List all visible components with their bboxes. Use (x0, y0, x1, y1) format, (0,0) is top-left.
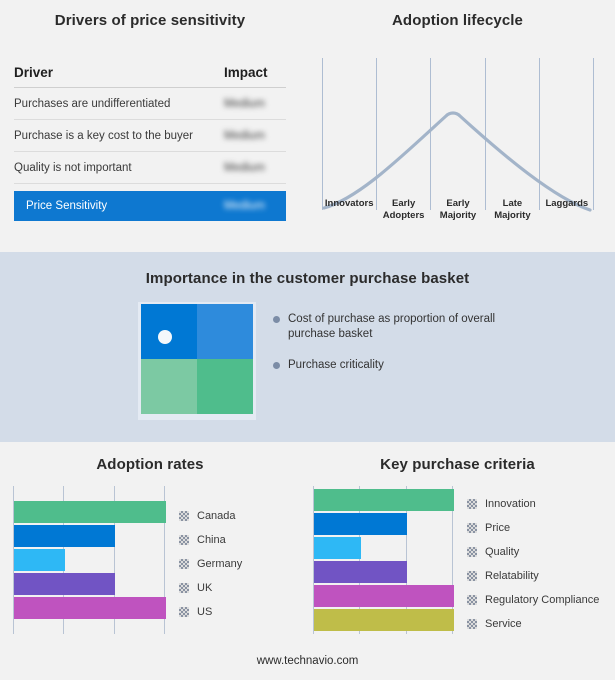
bar-slot (314, 609, 454, 631)
segment-line-2: Majority (432, 210, 484, 222)
bar-quality[interactable] (314, 537, 361, 559)
segment-line-1: Late (486, 198, 538, 210)
legend-item[interactable]: Regulatory Compliance (467, 588, 599, 612)
table-header-row: Driver Impact (14, 58, 286, 88)
segment-line-1: Early (432, 198, 484, 210)
matrix-quadrant-bottom-left[interactable] (141, 359, 197, 414)
driver-label: Purchase is a key cost to the buyer (14, 130, 193, 142)
legend-label: Germany (197, 558, 242, 570)
legend-item[interactable]: Quality (467, 540, 599, 564)
legend-swatch-icon (179, 511, 189, 521)
bar-canada[interactable] (14, 501, 166, 523)
basket-matrix (141, 304, 253, 414)
key-purchase-criteria-title: Key purchase criteria (300, 456, 615, 473)
legend-item[interactable]: Price (467, 516, 599, 540)
bar-germany[interactable] (14, 549, 65, 571)
basket-matrix-wrap (138, 302, 256, 420)
drivers-title: Drivers of price sensitivity (0, 12, 300, 29)
bar-china[interactable] (14, 525, 115, 547)
adoption-rates-panel: Adoption rates Can (0, 442, 300, 652)
adoption-rates-legend: Canada China Germany UK US (179, 486, 242, 638)
matrix-quadrant-top-right[interactable] (197, 304, 253, 359)
bar-slot (314, 585, 454, 607)
legend-item[interactable]: China (179, 528, 242, 552)
lifecycle-labels: Innovators Early Adopters Early Majority… (322, 198, 594, 221)
key-purchase-criteria-legend: Innovation Price Quality Relatability Re… (467, 486, 599, 638)
legend-label: UK (197, 582, 212, 594)
legend-label: US (197, 606, 212, 618)
matrix-quadrant-top-left[interactable] (141, 304, 197, 359)
legend-item[interactable]: Relatability (467, 564, 599, 588)
drivers-panel: Drivers of price sensitivity Driver Impa… (0, 0, 300, 252)
basket-panel: Importance in the customer purchase bask… (0, 252, 615, 442)
legend-swatch-icon (467, 571, 477, 581)
bullet-dot-icon (273, 316, 280, 323)
legend-swatch-icon (179, 559, 189, 569)
segment-line-1: Innovators (323, 198, 375, 210)
legend-item[interactable]: Service (467, 612, 599, 636)
bar-slot (14, 573, 166, 595)
bar-innovation[interactable] (314, 489, 454, 511)
bar-slot (14, 549, 166, 571)
bar-us[interactable] (14, 597, 166, 619)
bullet-dot-icon (273, 362, 280, 369)
lifecycle-segment-early-adopters: Early Adopters (376, 198, 430, 221)
legend-label: Canada (197, 510, 236, 522)
legend-item[interactable]: US (179, 600, 242, 624)
matrix-quadrant-bottom-right[interactable] (197, 359, 253, 414)
legend-label: Innovation (485, 498, 536, 510)
footer-url: www.technavio.com (0, 655, 615, 667)
legend-label: Regulatory Compliance (485, 594, 599, 606)
bar-slot (314, 537, 454, 559)
table-row-highlighted[interactable]: Price Sensitivity Medium (14, 191, 286, 221)
legend-swatch-icon (179, 583, 189, 593)
impact-value-redacted: Medium (224, 130, 280, 142)
lifecycle-segment-late-majority: Late Majority (485, 198, 539, 221)
legend-item[interactable]: Innovation (467, 492, 599, 516)
basket-legend-item: Cost of purchase as proportion of overal… (273, 312, 563, 342)
bar-slot (314, 489, 454, 511)
key-purchase-criteria-plot (313, 486, 453, 634)
legend-label: Service (485, 618, 522, 630)
bar-slot (14, 597, 166, 619)
drivers-table: Driver Impact Purchases are undifferenti… (14, 58, 286, 221)
bar-uk[interactable] (14, 573, 115, 595)
lifecycle-segment-innovators: Innovators (322, 198, 376, 221)
legend-swatch-icon (467, 499, 477, 509)
legend-item[interactable]: Canada (179, 504, 242, 528)
bar-price[interactable] (314, 513, 407, 535)
bar-regulatory-compliance[interactable] (314, 585, 454, 607)
legend-swatch-icon (179, 535, 189, 545)
segment-line-1: Laggards (541, 198, 593, 210)
table-row[interactable]: Quality is not important Medium (14, 152, 286, 184)
basket-legend: Cost of purchase as proportion of overal… (273, 312, 563, 389)
impact-value-redacted: Medium (224, 162, 280, 174)
key-purchase-criteria-bars (314, 486, 454, 634)
segment-line-1: Early (377, 198, 429, 210)
basket-legend-label: Cost of purchase as proportion of overal… (288, 312, 513, 342)
bar-slot (314, 561, 454, 583)
lifecycle-segment-laggards: Laggards (540, 198, 594, 221)
matrix-position-marker-icon (158, 330, 172, 344)
legend-item[interactable]: UK (179, 576, 242, 600)
bar-relatability[interactable] (314, 561, 407, 583)
bar-slot (14, 501, 166, 523)
lifecycle-panel: Adoption lifecycle Innovators Early Adop… (300, 0, 615, 252)
basket-legend-label: Purchase criticality (288, 358, 384, 373)
adoption-rates-bars (14, 486, 166, 634)
adoption-rates-title: Adoption rates (0, 456, 300, 473)
impact-value-redacted: Medium (224, 98, 280, 110)
driver-label: Quality is not important (14, 162, 132, 174)
driver-label: Purchases are undifferentiated (14, 98, 170, 110)
legend-swatch-icon (179, 607, 189, 617)
legend-swatch-icon (467, 523, 477, 533)
lifecycle-title: Adoption lifecycle (300, 12, 615, 29)
table-row[interactable]: Purchase is a key cost to the buyer Medi… (14, 120, 286, 152)
legend-label: Price (485, 522, 510, 534)
bar-slot (314, 513, 454, 535)
segment-line-2: Adopters (377, 210, 429, 222)
adoption-rates-plot (13, 486, 165, 634)
infographic-page: Drivers of price sensitivity Driver Impa… (0, 0, 615, 680)
legend-label: Relatability (485, 570, 539, 582)
driver-label-highlighted: Price Sensitivity (26, 200, 107, 212)
key-purchase-criteria-chart: Innovation Price Quality Relatability Re… (313, 486, 603, 638)
lifecycle-chart: Innovators Early Adopters Early Majority… (322, 58, 594, 228)
basket-legend-item: Purchase criticality (273, 358, 563, 373)
adoption-rates-chart: Canada China Germany UK US (13, 486, 288, 638)
legend-swatch-icon (467, 619, 477, 629)
basket-title: Importance in the customer purchase bask… (0, 270, 615, 287)
legend-label: Quality (485, 546, 519, 558)
legend-swatch-icon (467, 547, 477, 557)
bar-service[interactable] (314, 609, 454, 631)
legend-item[interactable]: Germany (179, 552, 242, 576)
impact-value-redacted: Medium (224, 200, 280, 212)
column-header-driver: Driver (14, 65, 53, 80)
bar-slot (14, 525, 166, 547)
key-purchase-criteria-panel: Key purchase criteria (300, 442, 615, 652)
legend-swatch-icon (467, 595, 477, 605)
lifecycle-segment-early-majority: Early Majority (431, 198, 485, 221)
segment-line-2: Majority (486, 210, 538, 222)
table-row[interactable]: Purchases are undifferentiated Medium (14, 88, 286, 120)
column-header-impact: Impact (224, 65, 280, 80)
legend-label: China (197, 534, 226, 546)
